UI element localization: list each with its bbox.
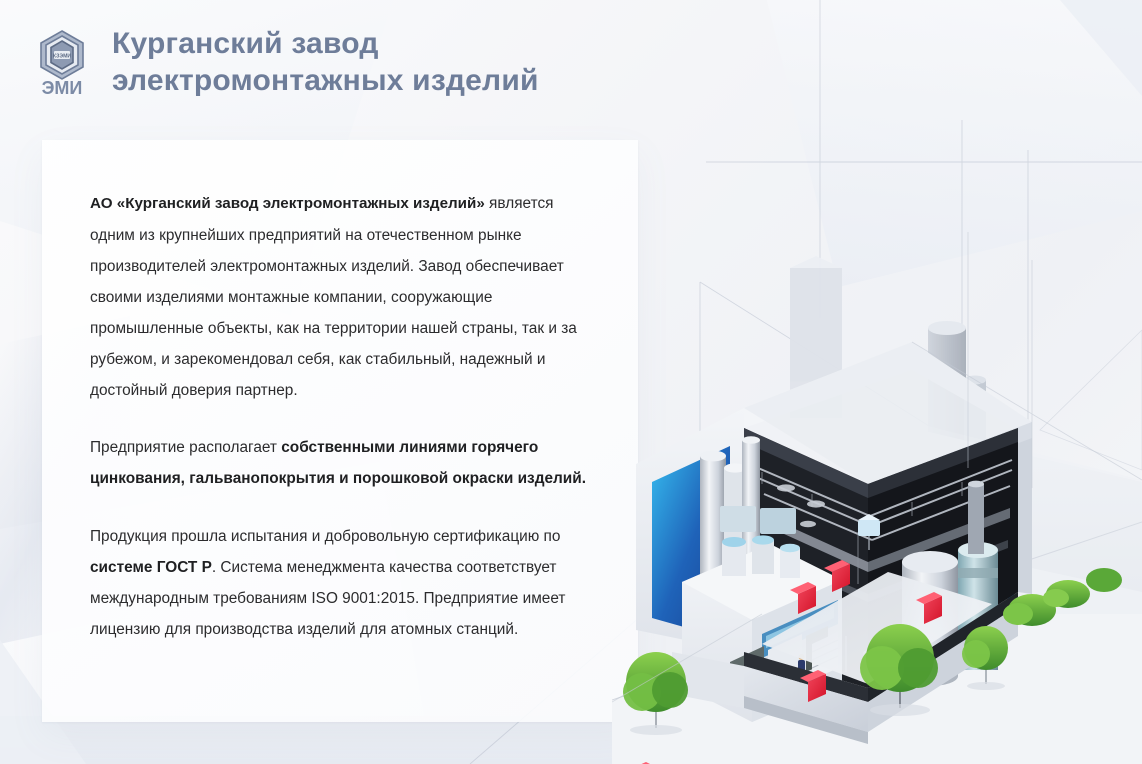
slide-header: КЗЭМИ ЭМИ Курганский завод электромонтаж… (34, 26, 539, 100)
slide-root: КЗЭМИ ЭМИ Курганский завод электромонтаж… (0, 0, 1142, 764)
content-card: АО «Курганский завод электромонтажных из… (42, 140, 638, 722)
shrub (1086, 568, 1122, 592)
page-title: Курганский завод электромонтажных издели… (112, 26, 539, 100)
production-lines-prefix: Предприятие располагает (90, 439, 281, 456)
isometric-factory-cutaway (612, 232, 1142, 764)
certification-bold: системе ГОСТ Р (90, 559, 212, 576)
company-name-bold: АО «Курганский завод электромонтажных из… (90, 195, 485, 212)
paragraph-certification: Продукция прошла испытания и добровольну… (90, 521, 594, 645)
certification-prefix: Продукция прошла испытания и добровольну… (90, 528, 560, 545)
company-overview-text: является одним из крупнейших предприятий… (90, 195, 577, 399)
paragraph-production-lines: Предприятие располагает собственными лин… (90, 432, 594, 494)
kzemi-diamond-emblem-logo: КЗЭМИ ЭМИ (34, 28, 90, 98)
logo-letters: ЭМИ (42, 78, 83, 98)
paragraph-company-overview: АО «Курганский завод электромонтажных из… (90, 188, 594, 406)
svg-text:КЗЭМИ: КЗЭМИ (53, 53, 72, 59)
